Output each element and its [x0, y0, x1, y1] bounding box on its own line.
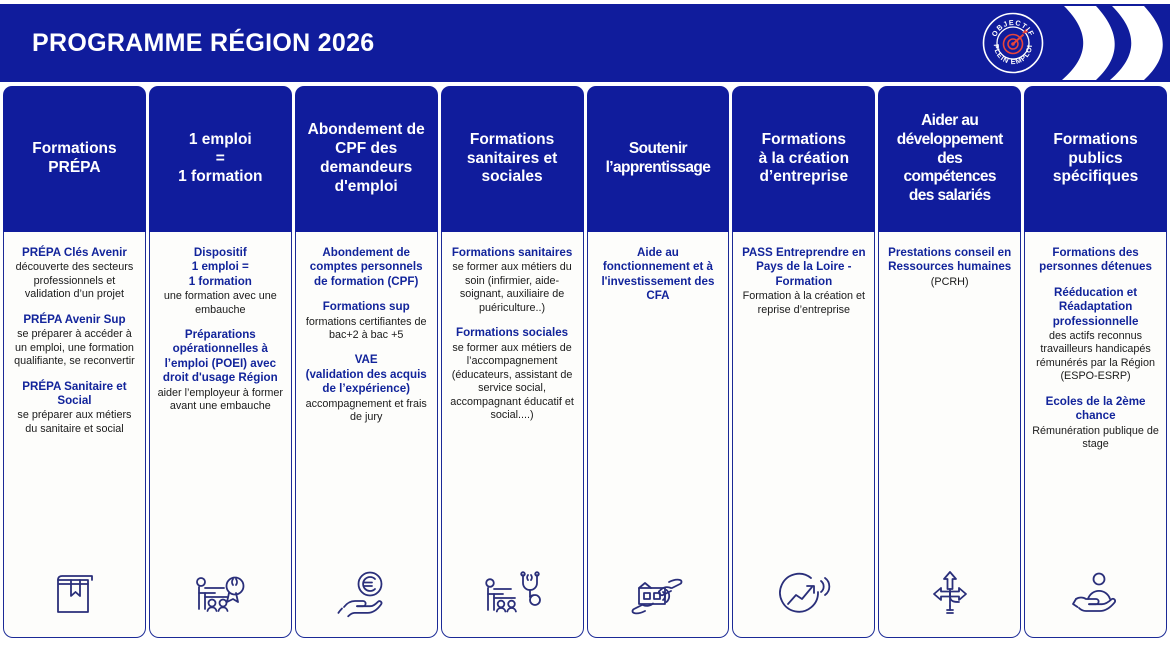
entry-title: PRÉPA Sanitaire et Social: [10, 380, 139, 409]
column-competences-salaries[interactable]: Aider audéveloppementdescompétencesdes s…: [878, 86, 1021, 638]
entry: Formations sociales se former aux métier…: [448, 326, 577, 422]
entry: Dispositif1 emploi =1 formation une form…: [156, 246, 285, 317]
book-bookmark-icon: [46, 566, 102, 622]
entry-title: Dispositif1 emploi =1 formation: [156, 246, 285, 289]
column-header: FormationsPRÉPA: [3, 86, 146, 232]
footer-strip: [0, 642, 1170, 662]
growth-chart-circle-icon: [774, 566, 834, 622]
column-icon-slot: [188, 551, 252, 629]
entry: PRÉPA Sanitaire et Social se préparer au…: [10, 380, 139, 437]
column-header: Abondement deCPF desdemandeursd'emploi: [295, 86, 438, 232]
entry-desc: découverte des secteurs professionnels e…: [10, 261, 139, 301]
entry-desc: se préparer à accéder à un emploi, une f…: [10, 328, 139, 368]
column-soutenir-apprentissage[interactable]: Soutenirl’apprentissage Aide au fonction…: [587, 86, 730, 638]
entry-desc: se former aux métiers du soin (infirmier…: [448, 261, 577, 315]
infographic-page: PROGRAMME RÉGION 2026 OBJECTIF PLEIN EMP…: [0, 0, 1170, 662]
column-un-emploi-une-formation[interactable]: 1 emploi=1 formation Dispositif1 emploi …: [149, 86, 292, 638]
column-body: Abondement de comptes personnels de form…: [295, 232, 438, 638]
entry: Aide au fonctionnement et à l'investisse…: [594, 246, 723, 304]
column-icon-slot: [1066, 551, 1126, 629]
entry-title: PRÉPA Clés Avenir: [10, 246, 139, 260]
entry-title: Rééducation et Réadaptation professionne…: [1031, 286, 1160, 329]
column-heading: Soutenirl’apprentissage: [606, 140, 711, 178]
entry-desc: aider l’employeur à former avant une emb…: [156, 387, 285, 414]
program-columns: FormationsPRÉPA PRÉPA Clés Avenir découv…: [0, 86, 1170, 638]
entry-title: Formations des personnes détenues: [1031, 246, 1160, 275]
entry-title: PASS Entreprendre en Pays de la Loire - …: [739, 246, 868, 289]
logo-text-bottom: PLEIN EMPLOI: [992, 44, 1034, 67]
header-logo-group: OBJECTIF PLEIN EMPLOI: [974, 6, 1164, 82]
entry: Ecoles de la 2ème chance Rémunération pu…: [1031, 395, 1160, 452]
column-abondement-cpf[interactable]: Abondement deCPF desdemandeursd'emploi A…: [295, 86, 438, 638]
three-way-arrows-icon: [922, 566, 978, 622]
entry-title: Abondement de comptes personnels de form…: [302, 246, 431, 289]
column-body: Formations des personnes détenues Rééduc…: [1024, 232, 1167, 638]
teaching-stethoscope-icon: [479, 566, 545, 622]
column-icon-slot: [922, 551, 978, 629]
entry: Prestations conseil en Ressources humain…: [885, 246, 1014, 289]
column-heading: FormationsPRÉPA: [32, 140, 116, 178]
entry: Abondement de comptes personnels de form…: [302, 246, 431, 289]
column-body: Dispositif1 emploi =1 formation une form…: [149, 232, 292, 638]
column-header: 1 emploi=1 formation: [149, 86, 292, 232]
entry-desc: se former aux métiers de l’accompagnemen…: [448, 342, 577, 423]
column-heading: 1 emploi=1 formation: [178, 131, 262, 188]
entry-desc: des actifs reconnus travailleurs handica…: [1031, 330, 1160, 384]
entry-desc: Rémunération publique de stage: [1031, 425, 1160, 452]
column-header: Formationssanitaires etsociales: [441, 86, 584, 232]
entry: PASS Entreprendre en Pays de la Loire - …: [739, 246, 868, 317]
column-icon-slot: [479, 551, 545, 629]
column-heading: Aider audéveloppementdescompétencesdes s…: [897, 112, 1003, 207]
entry-title: Formations sociales: [448, 326, 577, 340]
entry-title: VAE(validation des acquis de l’expérienc…: [302, 353, 431, 396]
entry-title: Aide au fonctionnement et à l'investisse…: [594, 246, 723, 304]
entry-title: PRÉPA Avenir Sup: [10, 313, 139, 327]
entry-title: Formations sanitaires: [448, 246, 577, 260]
column-header: Aider audéveloppementdescompétencesdes s…: [878, 86, 1021, 232]
entry: Formations sanitaires se former aux méti…: [448, 246, 577, 315]
column-icon-slot: [46, 551, 102, 629]
entry: Formations sup formations certifiantes d…: [302, 300, 431, 342]
column-heading: Formationspublicsspécifiques: [1053, 131, 1138, 188]
objectif-plein-emploi-logo: OBJECTIF PLEIN EMPLOI: [982, 12, 1044, 74]
entry: PRÉPA Clés Avenir découverte des secteur…: [10, 246, 139, 302]
column-body: Aide au fonctionnement et à l'investisse…: [587, 232, 730, 638]
column-header: Soutenirl’apprentissage: [587, 86, 730, 232]
entry: Rééducation et Réadaptation professionne…: [1031, 286, 1160, 384]
column-formations-prepa[interactable]: FormationsPRÉPA PRÉPA Clés Avenir découv…: [3, 86, 146, 638]
column-icon-slot: [774, 551, 834, 629]
entry-desc: se préparer aux métiers du sanitaire et …: [10, 409, 139, 436]
entry-desc: formations certifiantes de bac+2 à bac +…: [302, 316, 431, 343]
hands-exchange-building-icon: [625, 566, 691, 622]
entry-desc: Formation à la création et reprise d’ent…: [739, 290, 868, 317]
entry-title: Préparations opérationnelles à l’emploi …: [156, 328, 285, 386]
column-heading: Formationsà la créationd’entreprise: [759, 131, 849, 188]
entry: VAE(validation des acquis de l’expérienc…: [302, 353, 431, 424]
entry: Préparations opérationnelles à l’emploi …: [156, 328, 285, 413]
hand-person-support-icon: [1066, 568, 1126, 620]
entry: Formations des personnes détenues: [1031, 246, 1160, 275]
entry-desc: une formation avec une embauche: [156, 290, 285, 317]
svg-text:PLEIN EMPLOI: PLEIN EMPLOI: [992, 44, 1034, 67]
hand-euro-icon: [336, 566, 396, 622]
column-header: Formationsà la créationd’entreprise: [732, 86, 875, 232]
column-formations-sanitaires-sociales[interactable]: Formationssanitaires etsociales Formatio…: [441, 86, 584, 638]
column-body: PRÉPA Clés Avenir découverte des secteur…: [3, 232, 146, 638]
column-body: PASS Entreprendre en Pays de la Loire - …: [732, 232, 875, 638]
column-creation-entreprise[interactable]: Formationsà la créationd’entreprise PASS…: [732, 86, 875, 638]
teacher-award-icon: [188, 566, 252, 622]
entry-title: Prestations conseil en Ressources humain…: [885, 246, 1014, 275]
column-header: Formationspublicsspécifiques: [1024, 86, 1167, 232]
column-body: Formations sanitaires se former aux méti…: [441, 232, 584, 638]
column-body: Prestations conseil en Ressources humain…: [878, 232, 1021, 638]
entry-desc: accompagnement et frais de jury: [302, 398, 431, 425]
column-icon-slot: [625, 551, 691, 629]
column-heading: Formationssanitaires etsociales: [467, 131, 557, 188]
entry-desc: (PCRH): [885, 276, 1014, 289]
page-header: PROGRAMME RÉGION 2026 OBJECTIF PLEIN EMP…: [0, 4, 1170, 82]
column-heading: Abondement deCPF desdemandeursd'emploi: [308, 121, 425, 197]
entry-title: Formations sup: [302, 300, 431, 314]
column-publics-specifiques[interactable]: Formationspublicsspécifiques Formations …: [1024, 86, 1167, 638]
entry-title: Ecoles de la 2ème chance: [1031, 395, 1160, 424]
page-title: PROGRAMME RÉGION 2026: [32, 29, 374, 58]
swoosh-decoration-icon: [1056, 6, 1166, 80]
column-icon-slot: [336, 551, 396, 629]
entry: PRÉPA Avenir Sup se préparer à accéder à…: [10, 313, 139, 369]
